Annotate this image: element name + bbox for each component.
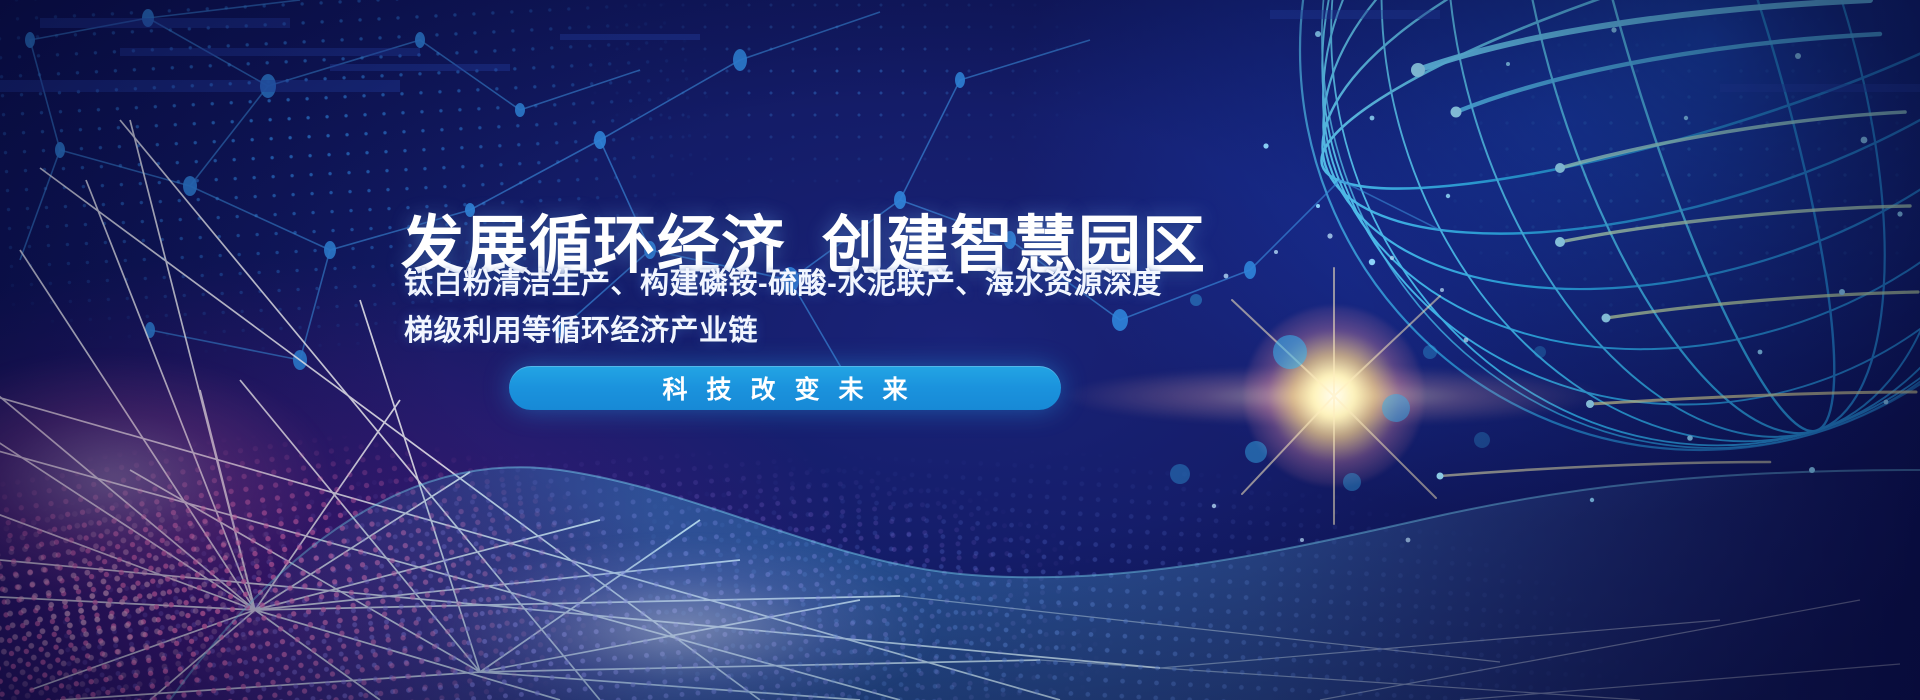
subtitle-line-1: 钛白粉清洁生产、构建磷铵-硫酸-水泥联产、海水资源深度 xyxy=(404,261,1244,308)
hero-banner: 发展循环经济 创建智慧园区 钛白粉清洁生产、构建磷铵-硫酸-水泥联产、海水资源深… xyxy=(0,0,1920,700)
subtitle-line-2: 梯级利用等循环经济产业链 xyxy=(404,308,1244,355)
subtitle-block: 钛白粉清洁生产、构建磷铵-硫酸-水泥联产、海水资源深度 梯级利用等循环经济产业链 xyxy=(404,261,1244,355)
banner-content: 发展循环经济 创建智慧园区 钛白粉清洁生产、构建磷铵-硫酸-水泥联产、海水资源深… xyxy=(0,0,1920,700)
cta-button[interactable]: 科技改变未来 xyxy=(509,366,1061,410)
